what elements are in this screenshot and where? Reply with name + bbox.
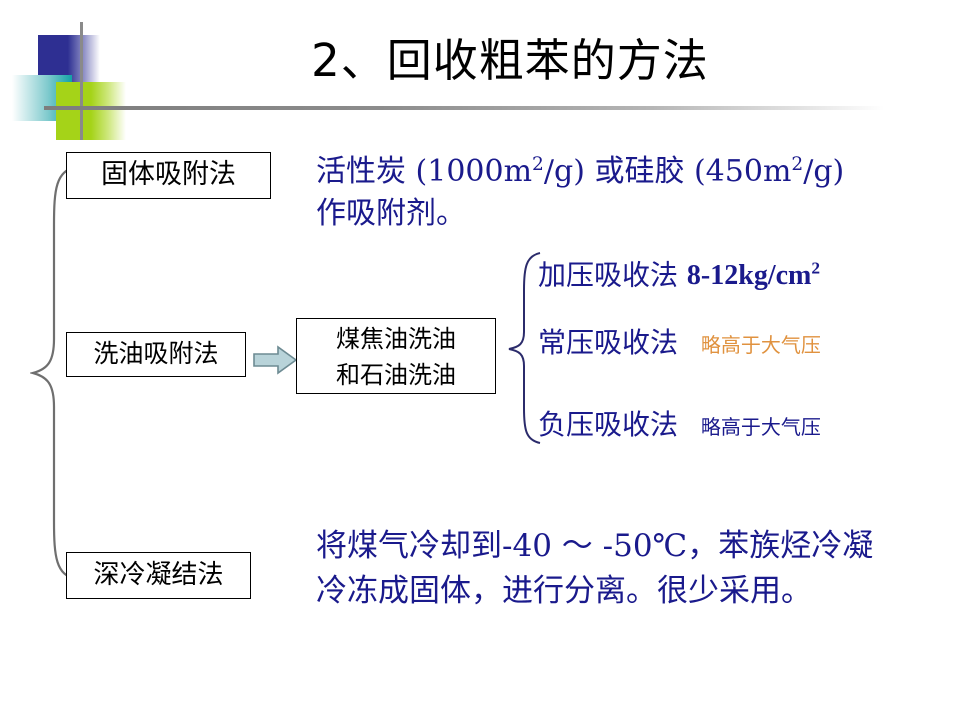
adsorb-pre: 活性炭 (1000m	[316, 154, 532, 189]
deep-condensation-detail: 将煤气冷却到-40 ～ -50℃，苯族烃冷凝冷冻成固体，进行分离。很少采用。	[316, 524, 896, 614]
method-box-wash[interactable]: 洗油吸附法	[66, 332, 246, 377]
wash-oil-line-2: 和石油洗油	[297, 357, 495, 393]
absorption-label-2: 常压吸收法	[538, 326, 678, 359]
right-arrow-icon	[252, 344, 298, 376]
title-horizontal-rule	[44, 106, 884, 110]
wash-oil-line-1: 煤焦油洗油	[297, 321, 495, 357]
solid-adsorption-line-2: 作吸附剂。	[316, 193, 916, 235]
absorption-method-row-3: 负压吸收法 略高于大气压	[538, 406, 821, 446]
absorption-value-sup-1: 2	[811, 259, 820, 278]
method-box-solid[interactable]: 固体吸附法	[66, 152, 271, 199]
absorption-note-2: 略高于大气压	[701, 333, 821, 357]
solid-adsorption-detail: 活性炭 (1000m2/g) 或硅胶 (450m2/g) 作吸附剂。	[316, 144, 916, 235]
adsorb-post: /g)	[803, 154, 844, 189]
absorption-method-row-2: 常压吸收法 略高于大气压	[538, 324, 821, 364]
solid-adsorption-line-1: 活性炭 (1000m2/g) 或硅胶 (450m2/g)	[316, 144, 916, 193]
absorption-value-1: 8-12kg/cm2	[687, 260, 820, 291]
absorption-label-1: 加压吸收法	[538, 258, 678, 291]
adsorb-sup-2: 2	[791, 154, 803, 175]
decorative-logo	[0, 0, 160, 150]
absorption-value-text-1: 8-12kg/cm	[687, 260, 811, 291]
slide-canvas: 2、回收粗苯的方法 固体吸附法 洗油吸附法 深冷凝结法 煤焦油洗油 和石油洗油 …	[0, 0, 960, 720]
logo-green-square	[56, 82, 126, 140]
absorption-label-3: 负压吸收法	[538, 408, 678, 441]
page-title: 2、回收粗苯的方法	[250, 34, 770, 88]
method-box-deep[interactable]: 深冷凝结法	[66, 552, 251, 599]
adsorb-sup-1: 2	[532, 154, 544, 175]
adsorb-mid: /g) 或硅胶 (450m	[544, 154, 792, 189]
absorption-method-row-1: 加压吸收法 8-12kg/cm2	[538, 250, 820, 295]
logo-vertical-rule	[80, 22, 83, 140]
wash-oils-box: 煤焦油洗油 和石油洗油	[296, 318, 496, 394]
absorption-note-3: 略高于大气压	[701, 415, 821, 439]
